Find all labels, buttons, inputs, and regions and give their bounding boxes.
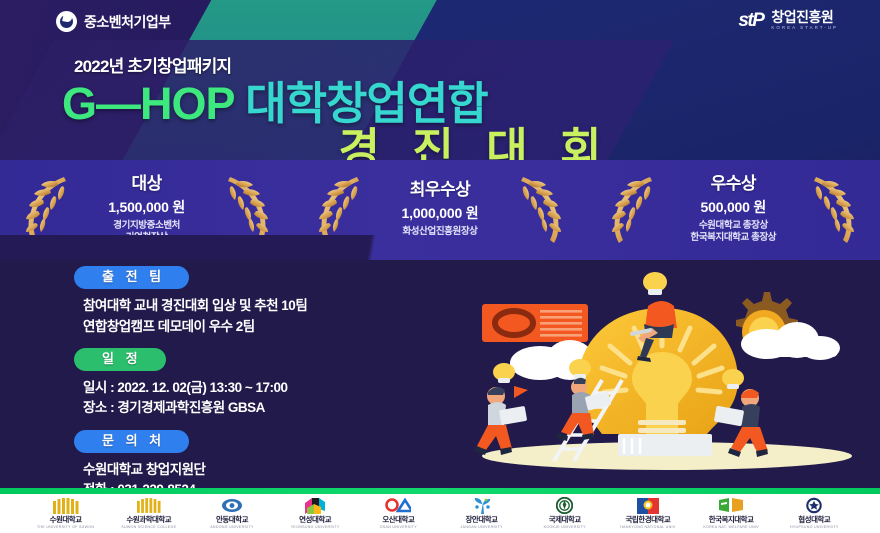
mini-bulb-icon xyxy=(643,272,667,295)
footer-logo-sublabel: THE UNIVERSITY OF SUWON xyxy=(37,526,94,530)
book-green-orange-icon xyxy=(719,497,743,514)
laurel-wreath-right-icon xyxy=(515,173,569,247)
title-univ: 대학창업연합 xyxy=(245,78,487,129)
laurel-wreath-left-icon xyxy=(604,173,658,247)
footer-logo-sublabel: JANGAN UNIVERSITY xyxy=(460,526,502,530)
mss-circular-mark-icon xyxy=(56,11,77,32)
award-org-line: 경기지방중소벤처 xyxy=(74,220,220,233)
footer-logo-yeonsung: 연성대학교 YEONSUNG UNIVERSITY xyxy=(276,497,354,529)
title-g: G— xyxy=(62,78,140,129)
contact-org: 수원대학교 창업지원단 xyxy=(83,460,474,480)
laurel-wreath-left-icon xyxy=(311,173,365,247)
award-text: 대상 1,500,000 원 경기지방중소벤처 기업청장상 xyxy=(72,175,222,245)
crown-gold-icon xyxy=(53,497,79,514)
award-amount: 500,000 원 xyxy=(660,197,806,217)
cube-color-icon xyxy=(305,497,325,514)
award-org-line: 기업청장상 xyxy=(74,232,220,245)
screen-panel-icon xyxy=(482,304,588,342)
title-eyebrow: 2022년 초기창업패키지 xyxy=(74,52,880,77)
kised-logo: stP 창업진흥원 KOREA START-UP xyxy=(738,10,838,31)
footer-logo-jangan: 장안대학교 JANGAN UNIVERSITY xyxy=(443,497,521,529)
footer-logo-sublabel: SUWON SCIENCE COLLEGE xyxy=(121,526,176,530)
award-amount: 1,000,000 원 xyxy=(367,203,513,223)
footer-logo-suwon-science: 수원과학대학교 SUWON SCIENCE COLLEGE xyxy=(110,497,188,529)
footer-logo-label: 수원대학교 xyxy=(50,516,82,524)
award-item: 우수상 500,000 원 수원대학교 총장상 한국복지대학교 총장상 xyxy=(587,160,880,260)
kised-logo-sublabel: KOREA START-UP xyxy=(771,26,838,31)
body-section: 출 전 팀 참여대학 교내 경진대회 입상 및 추천 10팀 연합창업캠프 데모… xyxy=(0,260,880,488)
badge-teams: 출 전 팀 xyxy=(74,266,189,289)
award-name: 최우수상 xyxy=(367,181,513,200)
footer-logo-label: 안동대학교 xyxy=(216,516,248,524)
footer-logo-welfare: 한국복지대학교 KOREA NAT. WELFARE UNIV xyxy=(692,497,770,529)
footer-logo-sublabel: HANKYONG NATIONAL UNIV xyxy=(620,526,675,530)
award-org-line: 한국복지대학교 총장상 xyxy=(660,232,806,245)
emblem-blue-icon xyxy=(221,497,243,514)
award-text: 우수상 500,000 원 수원대학교 총장상 한국복지대학교 총장상 xyxy=(658,175,808,245)
award-organization: 수원대학교 총장상 한국복지대학교 총장상 xyxy=(660,220,806,246)
footer-logo-sublabel: OSAN UNIVERSITY xyxy=(380,526,417,530)
laurel-wreath-right-icon xyxy=(808,173,862,247)
footer-logo-bar: 수원대학교 THE UNIVERSITY OF SUWON 수원과학대학교 SU… xyxy=(0,494,880,533)
footer-logo-label: 한국복지대학교 xyxy=(709,516,754,524)
teams-line: 연합창업캠프 데모데이 우수 2팀 xyxy=(83,317,474,337)
footer-logo-sublabel: KOREA NAT. WELFARE UNIV xyxy=(703,526,759,530)
footer-logo-sublabel: ANDONG UNIVERSITY xyxy=(210,526,253,530)
seal-green-icon xyxy=(556,497,573,514)
title-block: 2022년 초기창업패키지 G—HOP 대학창업연합 경 진 대 회 xyxy=(0,52,880,160)
title-line-2: 경 진 대 회 xyxy=(0,126,880,160)
section-schedule: 일 정 일시 : 2022. 12. 02(금) 13:30 ~ 17:00 장… xyxy=(74,348,474,419)
kised-logo-text: 창업진흥원 KOREA START-UP xyxy=(771,10,838,31)
footer-logo-suwon-univ: 수원대학교 THE UNIVERSITY OF SUWON xyxy=(27,497,105,529)
title-line-1: G—HOP 대학창업연합 xyxy=(62,80,880,128)
badge-contact: 문 의 처 xyxy=(74,430,189,453)
footer-logo-hankyong: 국립한경대학교 HANKYONG NATIONAL UNIV xyxy=(609,497,687,529)
footer-logo-label: 협성대학교 xyxy=(798,516,830,524)
ministry-logo-label: 중소벤처기업부 xyxy=(84,12,171,32)
person-running-left-icon xyxy=(474,386,528,455)
title-hop: HOP xyxy=(140,78,234,129)
kised-logo-label: 창업진흥원 xyxy=(771,10,838,24)
footer-logo-label: 오산대학교 xyxy=(382,516,414,524)
schedule-venue: 장소 : 경기경제과학진흥원 GBSA xyxy=(83,398,474,418)
footer-logo-sublabel: HYUPSUNG UNIVERSITY xyxy=(790,526,839,530)
footer-logo-osan: 오산대학교 OSAN UNIVERSITY xyxy=(359,497,437,529)
crest-navy-icon xyxy=(805,497,823,514)
teams-body: 참여대학 교내 경진대회 입상 및 추천 10팀 연합창업캠프 데모데이 우수 … xyxy=(83,296,474,337)
mini-bulb-icon xyxy=(493,363,515,383)
schedule-body: 일시 : 2022. 12. 02(금) 13:30 ~ 17:00 장소 : … xyxy=(83,378,474,419)
hero-banner: 중소벤처기업부 stP 창업진흥원 KOREA START-UP 2022년 초… xyxy=(0,0,880,160)
footer-logo-andong: 안동대학교 ANDONG UNIVERSITY xyxy=(193,497,271,529)
footer-logo-label: 수원과학대학교 xyxy=(126,516,171,524)
poster-root: 중소벤처기업부 stP 창업진흥원 KOREA START-UP 2022년 초… xyxy=(0,0,880,533)
crown-gold-icon xyxy=(137,497,161,514)
laurel-wreath-right-icon xyxy=(222,173,276,247)
footer-logo-label: 국제대학교 xyxy=(549,516,581,524)
ministry-logo: 중소벤처기업부 xyxy=(56,11,171,32)
award-organization: 화성산업진흥원장상 xyxy=(367,226,513,239)
badge-schedule: 일 정 xyxy=(74,348,166,371)
footer-logo-label: 국립한경대학교 xyxy=(626,516,671,524)
award-name: 대상 xyxy=(74,175,220,194)
footer-logo-sublabel: KOOKJE UNIVERSITY xyxy=(544,526,586,530)
award-org-line: 수원대학교 총장상 xyxy=(660,220,806,233)
startup-idea-illustration xyxy=(462,268,872,483)
arch-red-blue-icon xyxy=(385,497,411,514)
footer-logo-sublabel: YEONSUNG UNIVERSITY xyxy=(291,526,340,530)
laurel-wreath-left-icon xyxy=(18,173,72,247)
sponsor-logo-row: 중소벤처기업부 stP 창업진흥원 KOREA START-UP xyxy=(0,0,880,46)
award-org-line: 화성산업진흥원장상 xyxy=(367,226,513,239)
award-item: 대상 1,500,000 원 경기지방중소벤처 기업청장상 xyxy=(0,160,293,260)
section-teams: 출 전 팀 참여대학 교내 경진대회 입상 및 추천 10팀 연합창업캠프 데모… xyxy=(74,266,474,337)
footer-logo-label: 연성대학교 xyxy=(299,516,331,524)
footer-logo-label: 장안대학교 xyxy=(466,516,498,524)
sprout-blue-icon xyxy=(471,497,493,514)
award-amount: 1,500,000 원 xyxy=(74,197,220,217)
award-item: 최우수상 1,000,000 원 화성산업진흥원장상 xyxy=(293,160,586,260)
award-name: 우수상 xyxy=(660,175,806,194)
teams-line: 참여대학 교내 경진대회 입상 및 추천 10팀 xyxy=(83,296,474,316)
awards-band: 대상 1,500,000 원 경기지방중소벤처 기업청장상 xyxy=(0,160,880,260)
flag-blue-red-icon xyxy=(637,497,659,514)
footer-logo-kookje: 국제대학교 KOOKJE UNIVERSITY xyxy=(526,497,604,529)
award-text: 최우수상 1,000,000 원 화성산업진흥원장상 xyxy=(365,181,515,239)
stp-wordmark-icon: stP xyxy=(738,11,763,30)
footer-logo-hyupsung: 협성대학교 HYUPSUNG UNIVERSITY xyxy=(775,497,853,529)
award-organization: 경기지방중소벤처 기업청장상 xyxy=(74,220,220,246)
schedule-datetime: 일시 : 2022. 12. 02(금) 13:30 ~ 17:00 xyxy=(83,378,474,398)
